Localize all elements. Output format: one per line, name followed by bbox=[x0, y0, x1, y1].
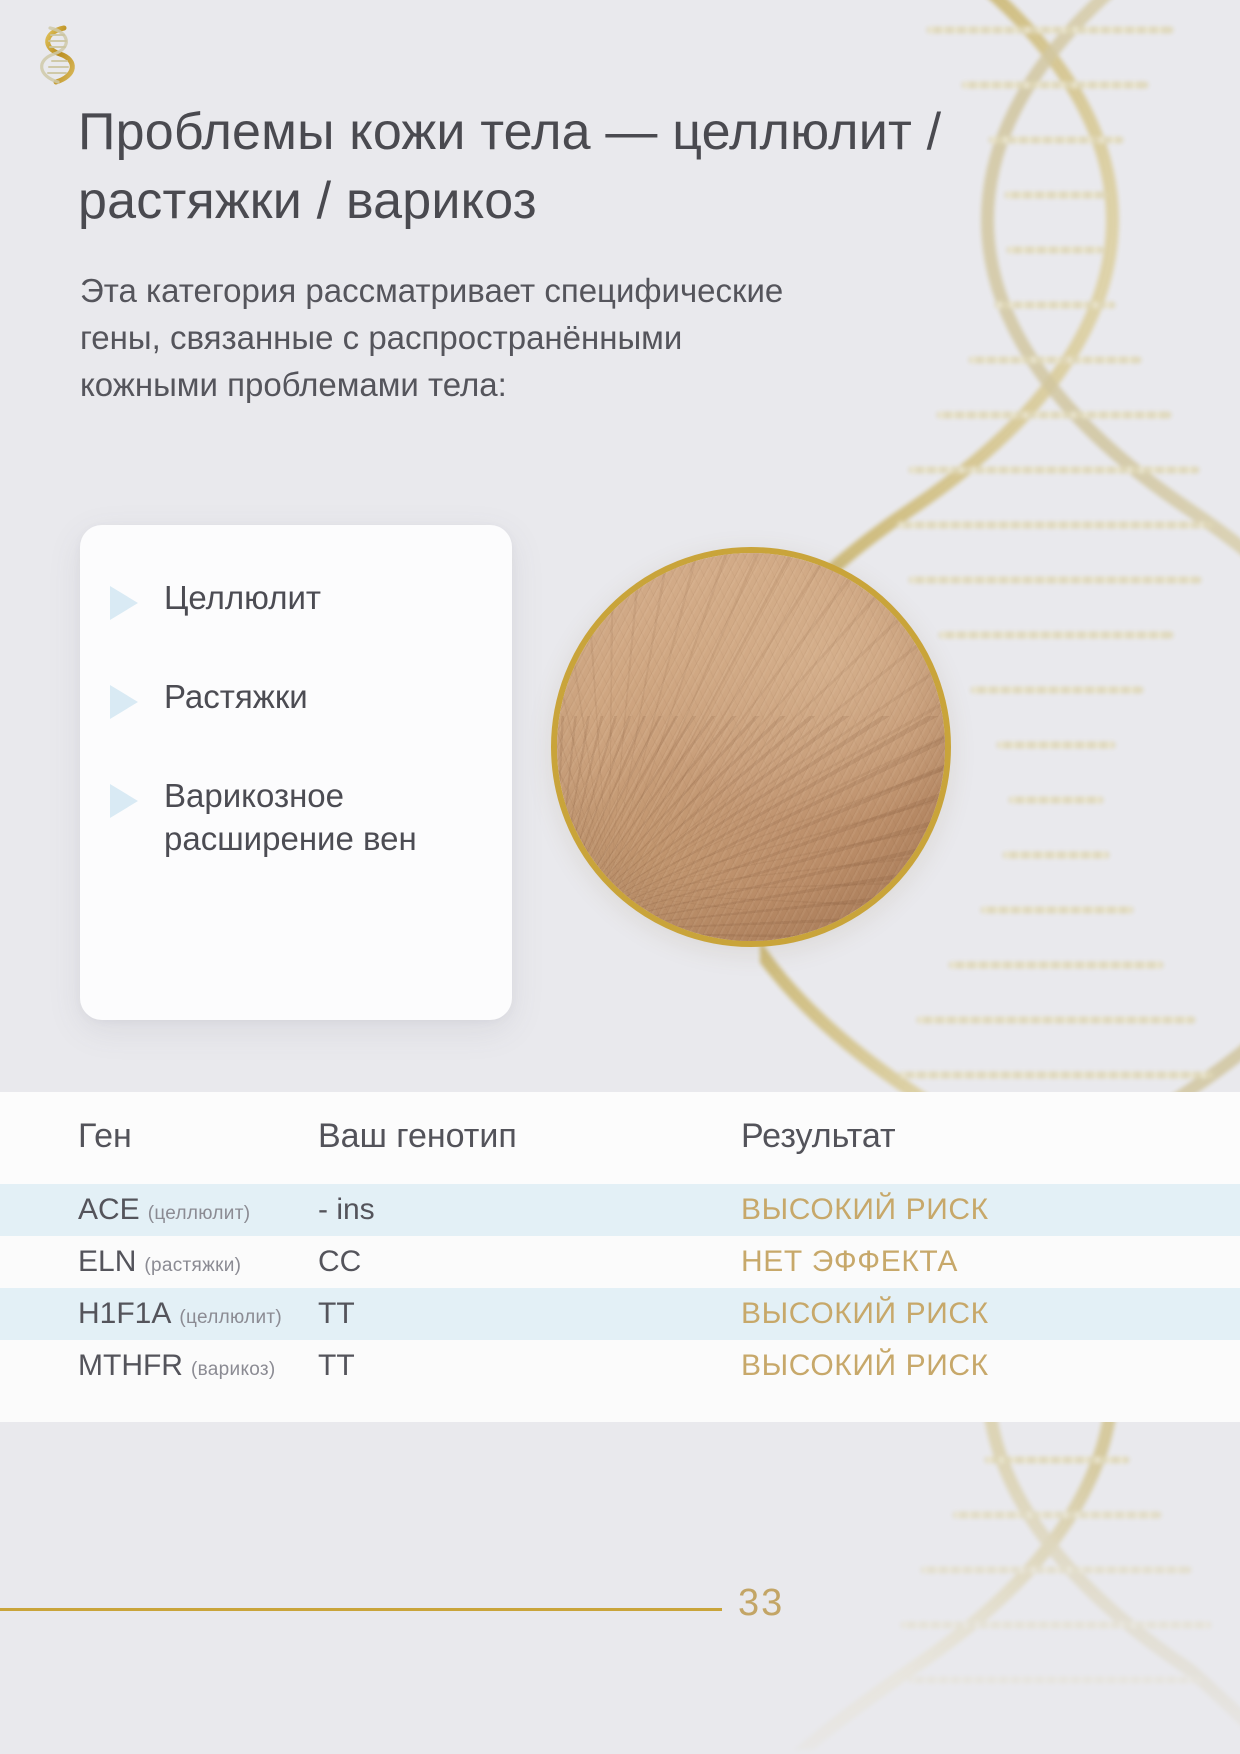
condition-list-card: Целлюлит Растяжки Варикозное расширение … bbox=[80, 525, 512, 1020]
condition-list: Целлюлит Растяжки Варикозное расширение … bbox=[110, 577, 478, 861]
cell-result: НЕТ ЭФФЕКТА bbox=[723, 1236, 1240, 1288]
slide-page: Проблемы кожи тела — целлюлит / растяжки… bbox=[0, 0, 1240, 1754]
column-header-gene: Ген bbox=[0, 1092, 318, 1184]
cell-gene: ELN(растяжки) bbox=[0, 1236, 318, 1288]
triangle-right-icon bbox=[110, 685, 138, 719]
status-badge: НЕТ ЭФФЕКТА bbox=[741, 1245, 958, 1278]
status-badge: ВЫСОКИЙ РИСК bbox=[741, 1297, 989, 1330]
list-item-label: Варикозное расширение вен bbox=[164, 775, 478, 861]
table-header-row: Ген Ваш генотип Результат bbox=[0, 1092, 1240, 1184]
triangle-right-icon bbox=[110, 784, 138, 818]
table-row: ACE(целлюлит) - ins ВЫСОКИЙ РИСК bbox=[0, 1184, 1240, 1236]
status-badge: ВЫСОКИЙ РИСК bbox=[741, 1193, 989, 1226]
page-footer: 33 bbox=[0, 1486, 1240, 1754]
status-badge: ВЫСОКИЙ РИСК bbox=[741, 1349, 989, 1382]
gene-note: (варикоз) bbox=[191, 1359, 276, 1380]
intro-paragraph: Эта категория рассматривает специфически… bbox=[80, 268, 800, 409]
cell-gene: H1F1A(целлюлит) bbox=[0, 1288, 318, 1340]
list-item: Варикозное расширение вен bbox=[110, 775, 478, 861]
cell-result: ВЫСОКИЙ РИСК bbox=[723, 1288, 1240, 1340]
skin-photo-circle bbox=[551, 547, 951, 947]
cell-genotype: TT bbox=[318, 1340, 723, 1392]
gene-note: (целлюлит) bbox=[148, 1203, 251, 1224]
gene-name: MTHFR bbox=[78, 1349, 183, 1382]
gene-name: ELN bbox=[78, 1245, 136, 1278]
table-row: H1F1A(целлюлит) TT ВЫСОКИЙ РИСК bbox=[0, 1288, 1240, 1340]
list-item-label: Целлюлит bbox=[164, 577, 321, 620]
gene-note: (растяжки) bbox=[144, 1255, 241, 1276]
page-title: Проблемы кожи тела — целлюлит / растяжки… bbox=[78, 98, 978, 235]
cell-result: ВЫСОКИЙ РИСК bbox=[723, 1340, 1240, 1392]
gene-name: ACE bbox=[78, 1193, 140, 1226]
table-row: ELN(растяжки) CC НЕТ ЭФФЕКТА bbox=[0, 1236, 1240, 1288]
table-row: MTHFR(варикоз) TT ВЫСОКИЙ РИСК bbox=[0, 1340, 1240, 1392]
list-item-label: Растяжки bbox=[164, 676, 308, 719]
column-header-result: Результат bbox=[723, 1092, 1240, 1184]
photo-vignette bbox=[557, 553, 945, 941]
gene-name: H1F1A bbox=[78, 1297, 171, 1330]
triangle-right-icon bbox=[110, 586, 138, 620]
cell-gene: ACE(целлюлит) bbox=[0, 1184, 318, 1236]
cell-genotype: CC bbox=[318, 1236, 723, 1288]
cell-gene: MTHFR(варикоз) bbox=[0, 1340, 318, 1392]
dna-helix-icon bbox=[30, 22, 82, 88]
page-number: 33 bbox=[738, 1582, 784, 1625]
table-bottom-spacer bbox=[0, 1392, 1240, 1422]
cell-result: ВЫСОКИЙ РИСК bbox=[723, 1184, 1240, 1236]
list-item: Растяжки bbox=[110, 676, 478, 719]
genotype-results-table: Ген Ваш генотип Результат ACE(целлюлит) … bbox=[0, 1092, 1240, 1422]
list-item: Целлюлит bbox=[110, 577, 478, 620]
column-header-genotype: Ваш генотип bbox=[318, 1092, 723, 1184]
cell-genotype: TT bbox=[318, 1288, 723, 1340]
footer-rule bbox=[0, 1608, 722, 1611]
cell-genotype: - ins bbox=[318, 1184, 723, 1236]
gene-note: (целлюлит) bbox=[179, 1307, 282, 1328]
